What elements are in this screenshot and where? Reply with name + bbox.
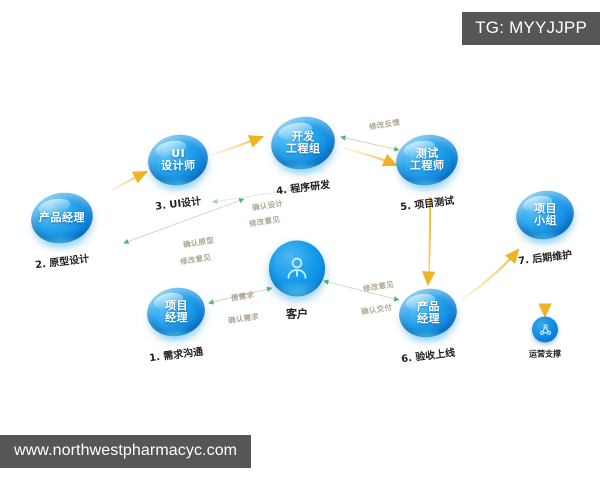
- node-qa-eng-role-label: 测试 工程师: [410, 148, 445, 172]
- customer-label: 客户: [269, 306, 325, 322]
- customer-glow: [270, 282, 324, 304]
- node-dev-group-bubble: 开发 工程组: [266, 111, 339, 175]
- node-proj-mgr-bubble: 项目 经理: [143, 282, 210, 341]
- node-ui-design-bubble: UI 设计师: [143, 129, 212, 190]
- tg-badge: TG: MYYJJPP: [462, 12, 600, 45]
- watermark-url: www.northwestpharmacyc.com: [0, 435, 251, 468]
- node-prod-mgr-bubble: 产品 经理: [395, 283, 462, 342]
- node-proj-team-bubble: 项目 小组: [512, 185, 579, 244]
- node-dev-group-role-label: 开发 工程组: [286, 131, 321, 155]
- node-prod-mgr[interactable]: 产品 经理6. 验收上线: [399, 289, 457, 337]
- node-dev-group[interactable]: 开发 工程组4. 程序研发: [271, 117, 335, 169]
- node-pm-proto-bubble: 产品经理: [26, 187, 97, 249]
- node-ui-design[interactable]: UI 设计师3. UI设计: [148, 135, 208, 185]
- node-proj-team-role-label: 项目 小组: [534, 203, 557, 227]
- node-customer[interactable]: 客户: [269, 241, 325, 322]
- network-share-icon: [538, 322, 553, 337]
- node-prod-mgr-role-label: 产品 经理: [417, 301, 440, 325]
- node-proj-team[interactable]: 项目 小组7. 后期维护: [516, 191, 574, 239]
- node-qa-eng-bubble: 测试 工程师: [391, 129, 462, 191]
- ops-support-disc: [532, 317, 558, 343]
- node-proj-mgr-role-label: 项目 经理: [165, 300, 188, 324]
- customer-avatar-disc: [269, 241, 325, 297]
- node-ops-support[interactable]: 运营支撑: [529, 317, 561, 360]
- user-icon: [282, 254, 312, 284]
- ops-support-label: 运营支撑: [529, 349, 561, 360]
- node-pm-proto[interactable]: 产品经理2. 原型设计: [31, 193, 93, 243]
- diagram-canvas: 产品经理2. 原型设计UI 设计师3. UI设计开发 工程组4. 程序研发测试 …: [0, 0, 600, 480]
- node-proj-mgr[interactable]: 项目 经理1. 需求沟通: [147, 288, 205, 336]
- node-qa-eng[interactable]: 测试 工程师5. 项目测试: [396, 135, 458, 185]
- node-ui-design-role-label: UI 设计师: [161, 148, 196, 172]
- node-pm-proto-role-label: 产品经理: [39, 212, 85, 224]
